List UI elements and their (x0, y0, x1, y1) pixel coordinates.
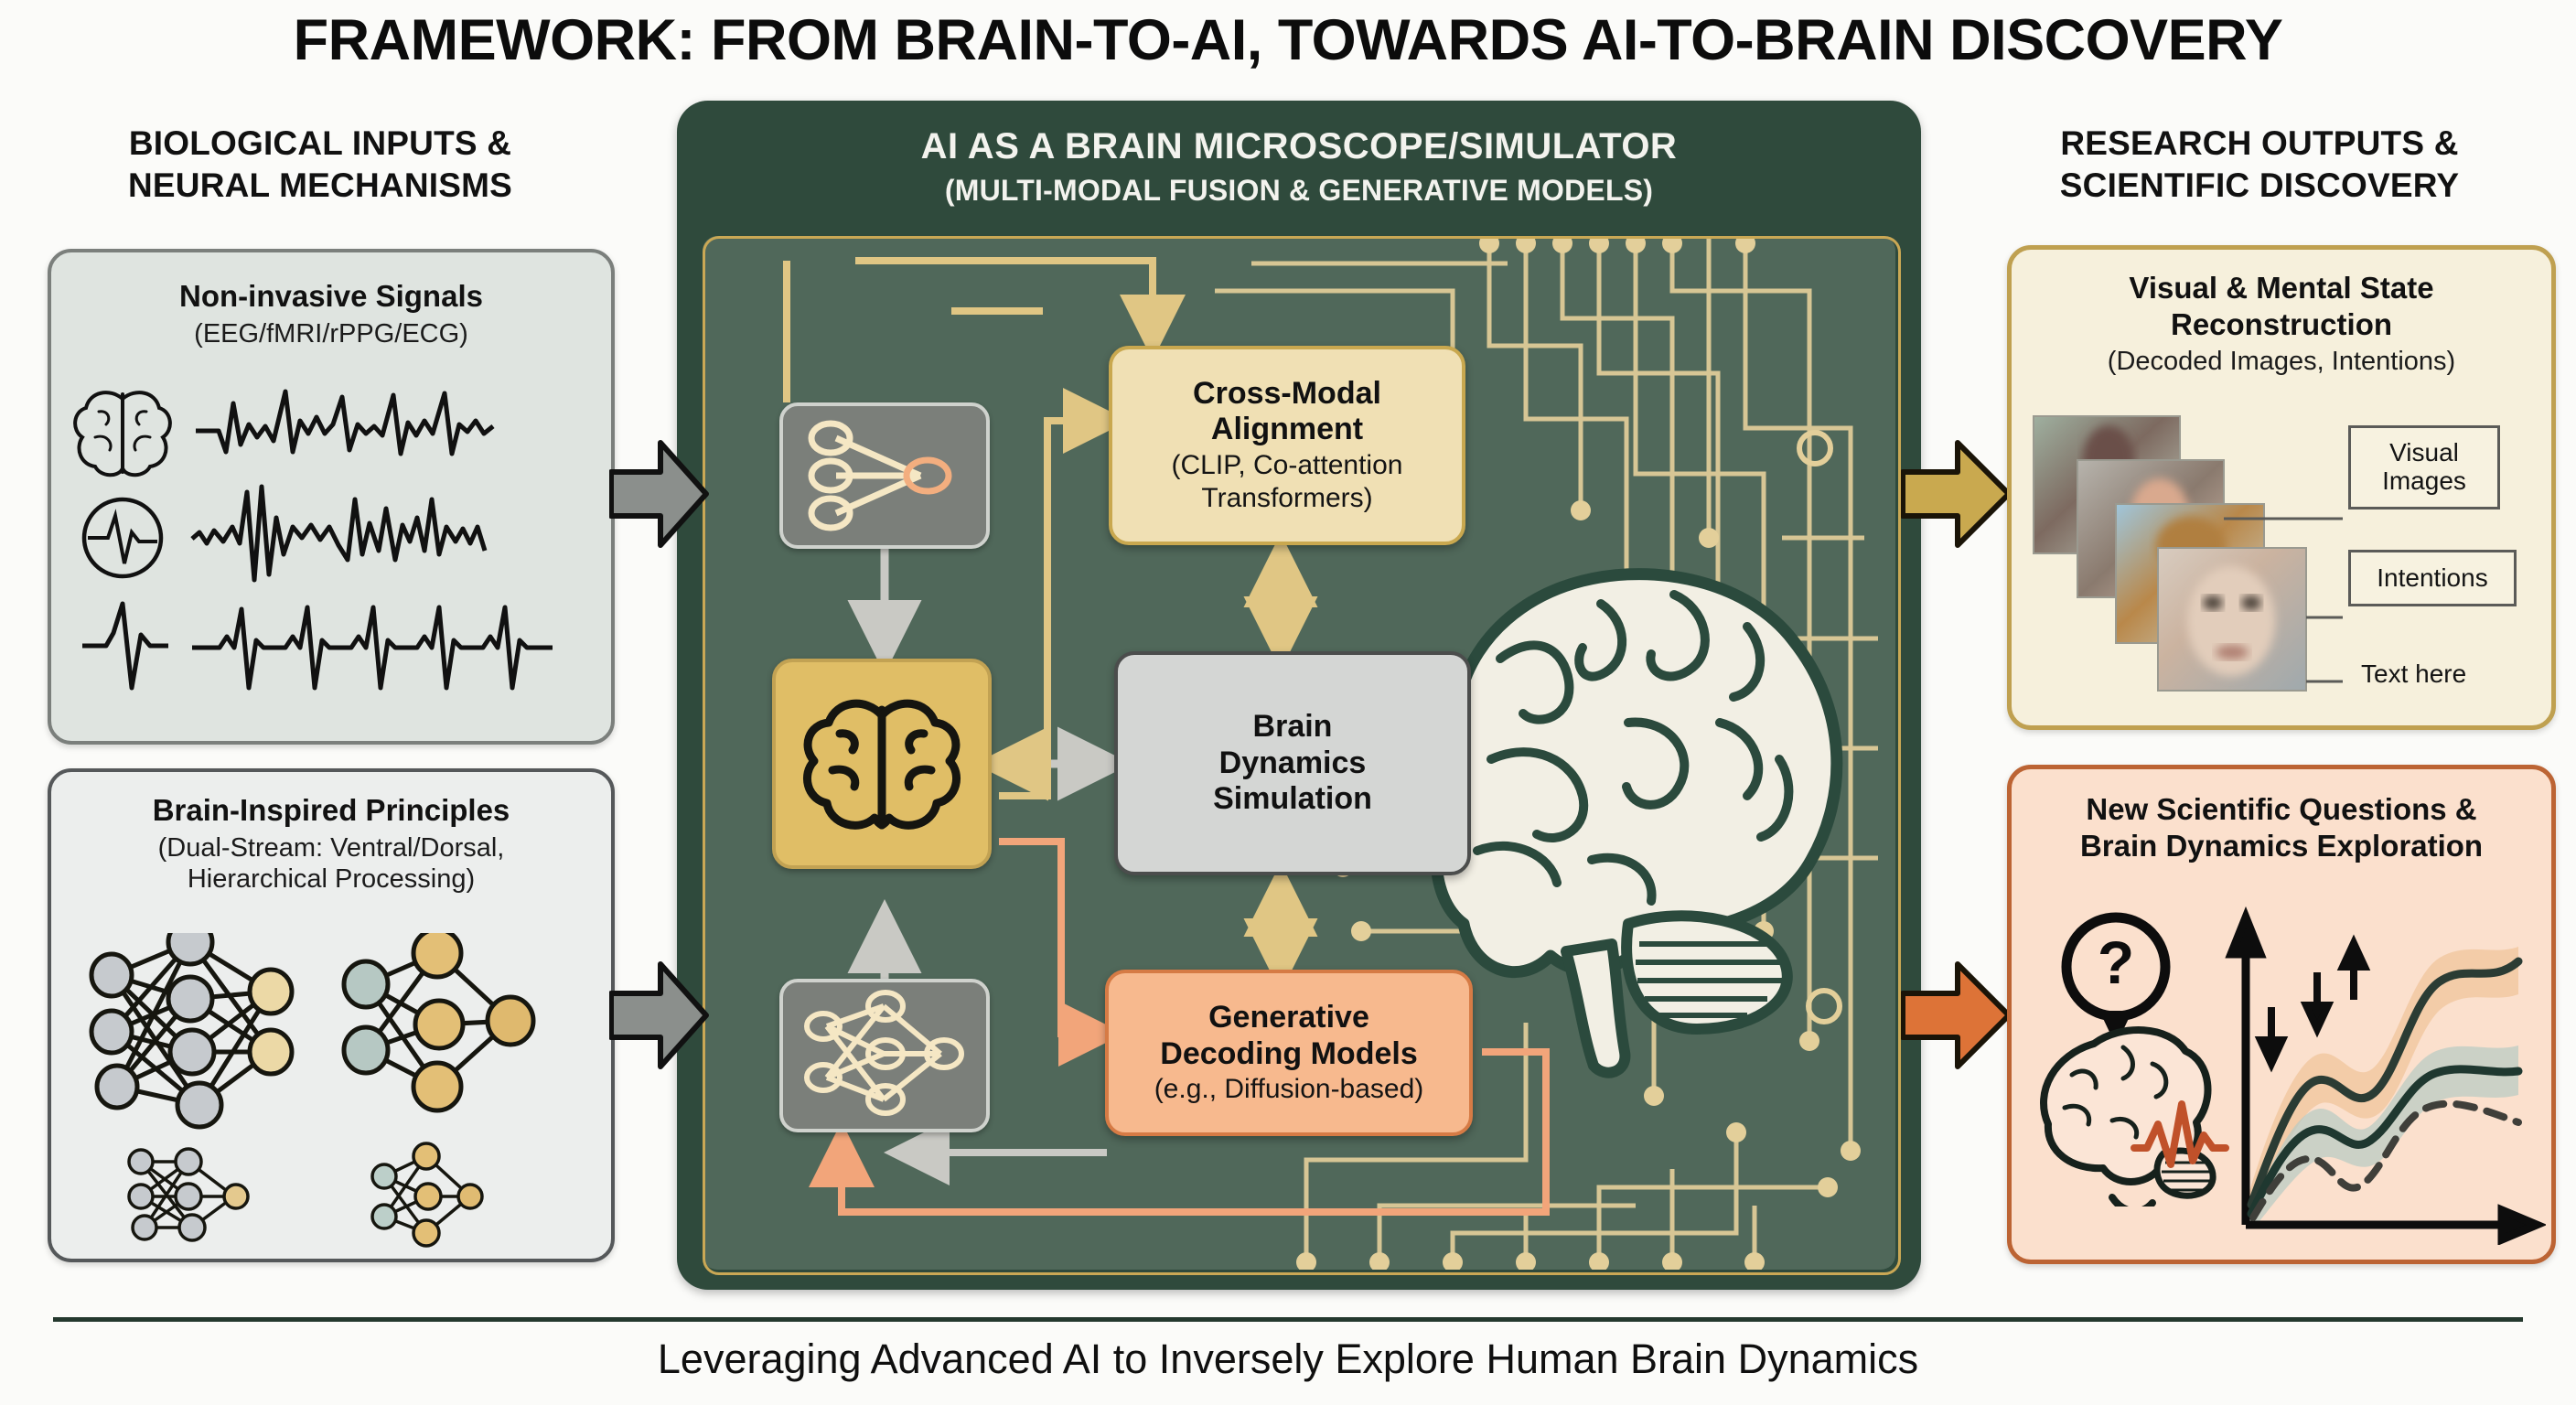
eeg-waveform (196, 391, 493, 454)
network-mlp-icon (783, 982, 986, 1129)
right-header-line2: SCIENTIFIC DISCOVERY (1958, 165, 2561, 207)
network-fan-box (779, 402, 990, 549)
principles-subtitle-line2: Hierarchical Processing) (51, 863, 611, 896)
brain-dynamics-title-line2: Dynamics (1219, 745, 1367, 781)
signals-title: Non-invasive Signals (51, 278, 611, 315)
brain-dynamics-simulation-box: Brain Dynamics Simulation (1114, 651, 1471, 875)
questions-title-line1: New Scientific Questions & (2012, 791, 2551, 828)
right-header-line1: RESEARCH OUTPUTS & (1958, 123, 2561, 165)
signal-waveforms (68, 381, 598, 719)
brain-dynamics-curves-chart (2200, 906, 2546, 1245)
reconstruction-caption: Text here (2361, 660, 2466, 689)
ecg-icon (82, 604, 168, 688)
generative-decoding-models-box: Generative Decoding Models (e.g., Diffus… (1105, 970, 1473, 1136)
brain-glyph (776, 662, 988, 865)
arrow-signals-to-center (609, 430, 710, 558)
left-header-line1: BIOLOGICAL INPUTS & (18, 123, 622, 165)
decoded-face (2158, 548, 2306, 691)
brain-icon (75, 392, 170, 475)
cross-modal-title-line1: Cross-Modal (1193, 376, 1381, 412)
arrow-principles-to-center (609, 951, 710, 1079)
neural-net-gray-small (129, 1149, 248, 1240)
neural-net-gray-large (91, 933, 292, 1127)
brain-dynamics-title-line3: Simulation (1213, 781, 1372, 817)
left-column-header: BIOLOGICAL INPUTS & NEURAL MECHANISMS (18, 123, 622, 206)
visual-mental-state-reconstruction-panel: Visual & Mental State Reconstruction (De… (2007, 245, 2556, 730)
tag-visual-images-line2: Images (2382, 467, 2466, 496)
principles-title: Brain-Inspired Principles (51, 792, 611, 829)
neural-network-graphics (64, 933, 604, 1253)
tag-intentions-label: Intentions (2377, 564, 2487, 593)
tag-visual-images-line1: Visual (2389, 439, 2459, 467)
cross-modal-sub-line1: (CLIP, Co-attention (1172, 450, 1403, 482)
pulse-circle-icon (84, 499, 161, 576)
left-header-line2: NEURAL MECHANISMS (18, 165, 622, 207)
footer-caption: Leveraging Advanced AI to Inversely Expl… (0, 1335, 2576, 1383)
reconstruction-subtitle: (Decoded Images, Intentions) (2012, 346, 2551, 378)
questions-title-line2: Brain Dynamics Exploration (2012, 828, 2551, 864)
right-column-header: RESEARCH OUTPUTS & SCIENTIFIC DISCOVERY (1958, 123, 2561, 206)
generative-title-line1: Generative (1208, 1000, 1369, 1035)
network-mlp-box (779, 979, 990, 1132)
generative-sub-line1: (e.g., Diffusion-based) (1154, 1074, 1424, 1106)
cross-modal-sub-line2: Transformers) (1201, 483, 1372, 515)
reconstruction-title-line1: Visual & Mental State (2012, 270, 2551, 306)
brain-inspired-principles-panel: Brain-Inspired Principles (Dual-Stream: … (48, 768, 615, 1262)
non-invasive-signals-panel: Non-invasive Signals (EEG/fMRI/rPPG/ECG) (48, 249, 615, 745)
tag-intentions: Intentions (2348, 550, 2517, 606)
cross-modal-alignment-box: Cross-Modal Alignment (CLIP, Co-attentio… (1109, 346, 1465, 545)
new-scientific-questions-panel: New Scientific Questions & Brain Dynamic… (2007, 765, 2556, 1264)
network-fan-icon (783, 406, 986, 545)
principles-subtitle-line1: (Dual-Stream: Ventral/Dorsal, (51, 832, 611, 864)
generative-title-line2: Decoding Models (1160, 1036, 1417, 1072)
question-mark-glyph: ? (2098, 928, 2134, 996)
brain-signal-icon (2044, 1030, 2226, 1207)
tag-visual-images: Visual Images (2348, 425, 2500, 509)
cross-modal-title-line2: Alignment (1211, 412, 1363, 447)
arrow-center-to-questions (1901, 951, 2012, 1079)
signals-subtitle: (EEG/fMRI/rPPG/ECG) (51, 318, 611, 350)
brain-dynamics-title-line1: Brain (1253, 709, 1333, 745)
brain-chip-icon (772, 659, 992, 869)
page-title: FRAMEWORK: FROM BRAIN-TO-AI, TOWARDS AI-… (0, 7, 2576, 73)
arrow-center-to-reconstruction (1901, 430, 2012, 558)
neural-net-gold-small (372, 1143, 482, 1246)
neural-net-gold-large (344, 933, 533, 1110)
footer-divider (53, 1317, 2523, 1322)
ecg-waveform (192, 607, 553, 688)
fmri-waveform (192, 487, 485, 580)
decoded-image-stack (2021, 407, 2350, 709)
reconstruction-title-line2: Reconstruction (2012, 306, 2551, 343)
